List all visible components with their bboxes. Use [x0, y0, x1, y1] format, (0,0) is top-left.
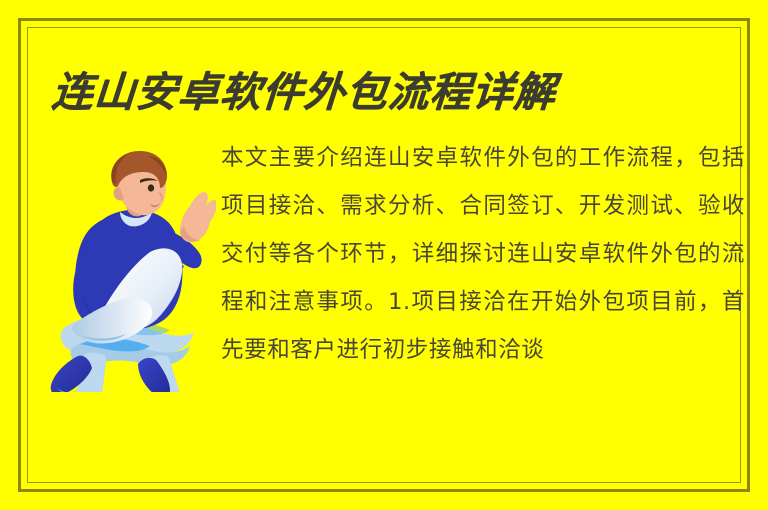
article-body: 本文主要介绍连山安卓软件外包的工作流程，包括项目接洽、需求分析、合同签订、开发测… [221, 134, 745, 374]
poster-canvas: 连山安卓软件外包流程详解 [0, 0, 768, 510]
illustration-man-with-laptop [44, 148, 216, 392]
illustration-raised-hand [180, 192, 216, 242]
illustration-shoes [51, 356, 170, 392]
page-title: 连山安卓软件外包流程详解 [50, 58, 558, 118]
illustration-head [111, 151, 167, 215]
